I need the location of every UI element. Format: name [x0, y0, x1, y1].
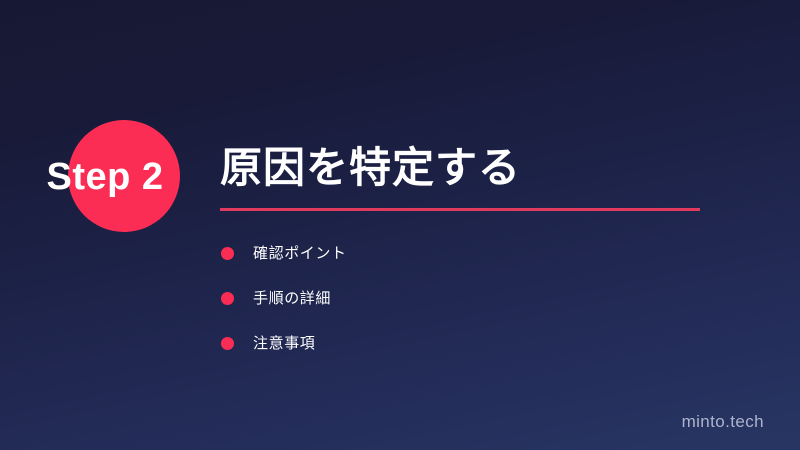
list-item: 確認ポイント [220, 231, 720, 276]
bullet-dot-icon [221, 337, 234, 350]
list-item: 注意事項 [220, 321, 720, 366]
list-item: 手順の詳細 [220, 276, 720, 321]
step-badge: Step 2 [0, 118, 210, 236]
slide-content: 原因を特定する 確認ポイント 手順の詳細 注意事項 [220, 140, 720, 366]
footer-brand-label: minto.tech [682, 412, 764, 432]
bullet-item-label: 確認ポイント [253, 246, 347, 261]
bullet-item-label: 注意事項 [253, 336, 315, 351]
bullet-list: 確認ポイント 手順の詳細 注意事項 [220, 231, 720, 366]
slide-title: 原因を特定する [220, 140, 720, 196]
title-divider [220, 208, 700, 211]
step-badge-label: Step 2 [0, 118, 210, 236]
bullet-dot-icon [221, 247, 234, 260]
bullet-item-label: 手順の詳細 [253, 291, 331, 306]
bullet-dot-icon [221, 292, 234, 305]
slide-canvas: Step 2 原因を特定する 確認ポイント 手順の詳細 注意事項 minto.t… [0, 0, 800, 450]
